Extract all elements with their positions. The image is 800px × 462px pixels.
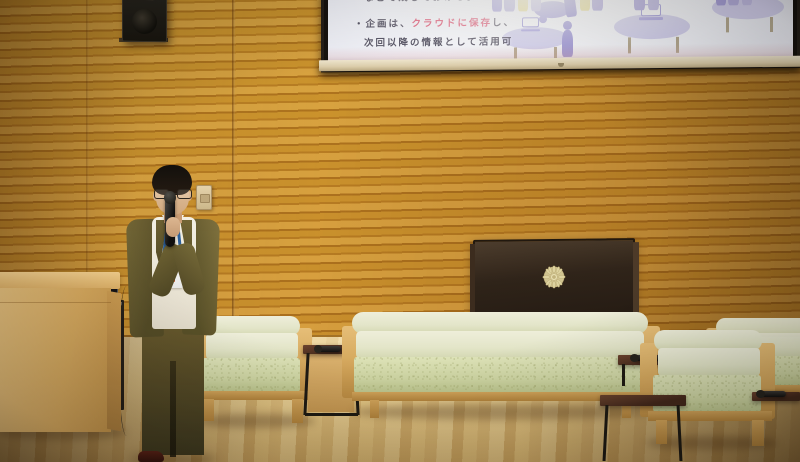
illus-laptop-screen	[522, 17, 539, 28]
presenter-leg-seam	[170, 361, 176, 457]
chair-leg	[292, 399, 303, 423]
chair-backrest	[658, 348, 760, 376]
crest-panel	[473, 238, 635, 322]
side-table-frame	[603, 405, 609, 461]
slide-line-3-tail: し、	[492, 17, 515, 28]
chrysanthemum-crest-icon	[542, 265, 566, 289]
side-table-frame	[622, 364, 625, 386]
side-table-frame	[677, 405, 683, 461]
sofa-backrest	[356, 331, 644, 359]
side-table-frame	[305, 413, 358, 416]
side-table-front-right[interactable]	[600, 395, 686, 461]
glasses-lens	[177, 189, 192, 199]
podium-front-panel	[0, 288, 111, 432]
chair-leg	[752, 420, 764, 446]
illus-laptop-base	[639, 17, 662, 20]
illus-person	[716, 0, 726, 6]
illus-person-body	[742, 0, 752, 5]
illus-person-body	[580, 0, 590, 11]
presenter	[116, 165, 228, 462]
projection-screen: カッションの内容をチャット などで残しておける。 ・企画は、クラウドに保存し、 …	[321, 0, 800, 98]
side-table-far-right[interactable]	[752, 392, 800, 406]
slide-line-2: などで残しておける。	[364, 0, 478, 4]
slide-surface: カッションの内容をチャット などで残しておける。 ・企画は、クラウドに保存し、 …	[328, 0, 793, 63]
illus-person	[634, 0, 645, 10]
crest-panel-edge	[470, 244, 475, 322]
illus-person-body	[592, 0, 603, 11]
illus-person	[742, 0, 752, 5]
microphone-head	[314, 345, 322, 353]
crest-panel-edge	[633, 242, 639, 320]
illus-person	[580, 0, 590, 11]
wall-mounted-speaker-icon	[122, 0, 167, 42]
sofa-leg	[370, 400, 379, 418]
microphone-head	[630, 354, 639, 362]
presenter-hand	[166, 217, 180, 237]
illus-person	[504, 0, 515, 12]
illus-person-body	[728, 0, 739, 5]
illus-person	[531, 0, 541, 11]
illus-laptop-base	[521, 29, 541, 31]
illus-table-leg	[726, 17, 729, 32]
lectern-podium	[0, 272, 120, 432]
illus-person	[728, 0, 739, 5]
illus-person-body	[634, 0, 645, 10]
illus-person	[648, 0, 659, 10]
conference-hall-photo: カッションの内容をチャット などで残しておける。 ・企画は、クラウドに保存し、 …	[0, 0, 800, 462]
illus-person-head	[563, 21, 572, 30]
illus-person-body	[492, 0, 502, 12]
podium-top	[0, 272, 120, 289]
sofa-seat-cushion	[354, 357, 646, 393]
illus-laptop	[522, 17, 539, 31]
illus-person-body	[518, 0, 528, 11]
presenter-shoe	[138, 451, 164, 462]
illus-table-leg	[770, 17, 773, 32]
illus-person-body	[648, 0, 659, 10]
slide-line-3-highlight: クラウドに保存	[412, 18, 493, 30]
microphone-head	[756, 390, 765, 398]
illus-person	[492, 0, 502, 12]
podium-seam	[0, 302, 111, 303]
screen-pull-knob[interactable]	[558, 63, 564, 67]
illus-person-body	[716, 0, 726, 6]
side-table-top[interactable]	[600, 395, 686, 406]
slide-line-3-lead: ・企画は、	[354, 18, 412, 30]
illus-person-body	[504, 0, 515, 12]
speaker-cone	[132, 9, 157, 34]
microphone-head	[164, 191, 176, 204]
illus-person-body	[531, 0, 541, 11]
illus-person	[518, 0, 528, 11]
seat-texture	[354, 357, 646, 393]
slide-line-3: ・企画は、クラウドに保存し、	[354, 14, 515, 30]
illus-person	[592, 0, 603, 11]
